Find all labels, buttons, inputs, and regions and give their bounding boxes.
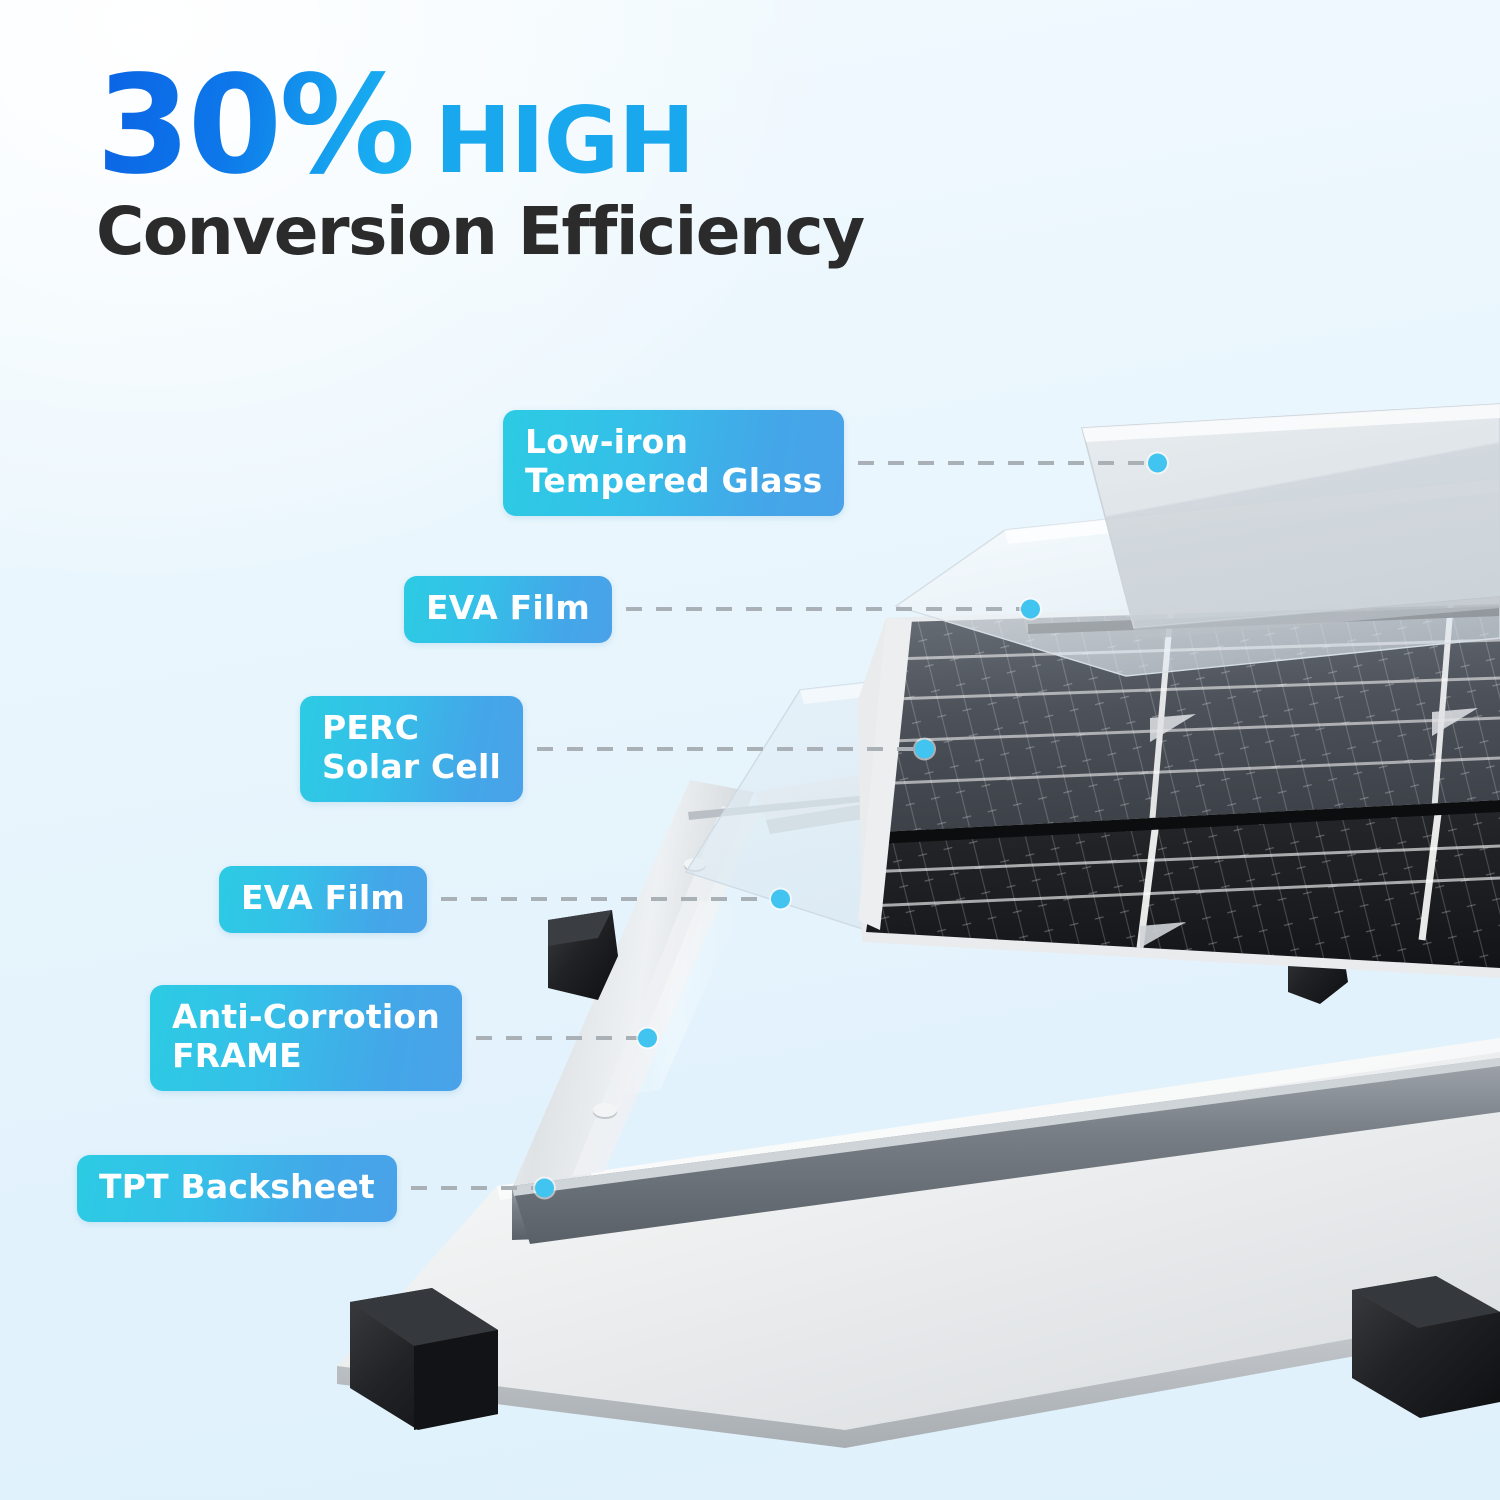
callout-eva-film-top: EVA Film [404,576,1031,643]
layer-tpt-backsheet [337,1038,1500,1448]
callout-anti-corrotion-frame: Anti-Corrotion FRAME [150,985,648,1091]
callout-perc-solar-cell: PERC Solar Cell [300,696,925,802]
leader-line-eva-film-bottom [441,897,781,901]
callout-tpt-backsheet: TPT Backsheet [77,1155,545,1222]
headline-primary-row: 30% HIGH [96,62,956,191]
headline-subtitle: Conversion Efficiency [96,193,956,270]
badge-eva-film-bottom[interactable]: EVA Film [219,866,427,933]
leader-line-tpt-backsheet [411,1186,545,1190]
corner-bracket-bottom-left [350,1288,498,1430]
callout-low-iron-tempered-glass: Low-iron Tempered Glass [503,410,1158,516]
leader-dot-icon [638,1028,657,1047]
callout-eva-film-bottom: EVA Film [219,866,781,933]
leader-line-perc-solar-cell [537,747,925,751]
leader-line-eva-film-top [626,607,1031,611]
headline-percent: 30% [96,62,413,191]
headline-emphasis: HIGH [435,97,695,184]
leader-dot-icon [915,739,934,758]
leader-dot-icon [1148,453,1167,472]
headline-block: 30% HIGH Conversion Efficiency [96,62,956,270]
leader-dot-icon [771,890,790,909]
corner-bracket-bottom-right [1352,1276,1500,1418]
leader-dot-icon [1021,600,1040,619]
badge-anti-corrotion-frame[interactable]: Anti-Corrotion FRAME [150,985,462,1091]
layer-perc-solar-cell [850,588,1500,980]
badge-eva-film-top[interactable]: EVA Film [404,576,612,643]
corner-bracket-mid-right [1288,930,1348,1004]
badge-low-iron-tempered-glass[interactable]: Low-iron Tempered Glass [503,410,844,516]
badge-perc-solar-cell[interactable]: PERC Solar Cell [300,696,523,802]
leader-dot-icon [535,1179,554,1198]
infographic-root: 30% HIGH Conversion Efficiency Low-iron … [0,0,1500,1500]
badge-tpt-backsheet[interactable]: TPT Backsheet [77,1155,397,1222]
leader-line-low-iron-tempered-glass [858,461,1158,465]
leader-line-anti-corrotion-frame [476,1036,648,1040]
